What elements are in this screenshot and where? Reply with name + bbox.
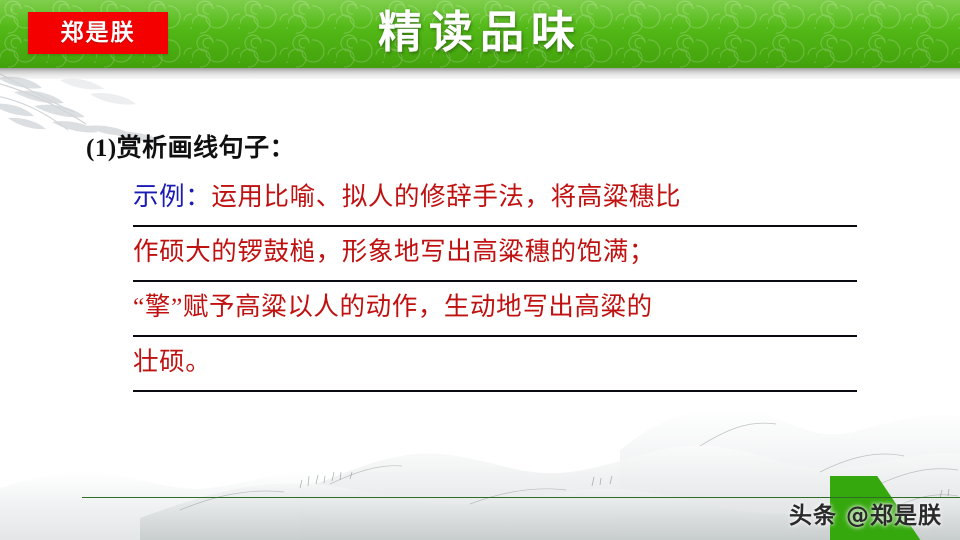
answer-text: 壮硕。: [133, 347, 211, 376]
answer-text: 作硕大的锣鼓槌，形象地写出高粱穗的饱满；: [133, 237, 655, 266]
answer-row: 示例：运用比喻、拟人的修辞手法，将高粱穗比: [133, 172, 857, 227]
page-title: 精读品味: [0, 2, 960, 64]
bamboo-decoration-icon: [0, 72, 220, 182]
slide-canvas: 郑是朕 精读品味 (1)赏析画线句子：: [0, 0, 960, 540]
answer-text: 运用比喻、拟人的修辞手法，将高粱穗比: [211, 182, 681, 211]
answer-label: 示例：: [133, 182, 211, 211]
answer-text: “擎”赋予高粱以人的动作，生动地写出高粱的: [133, 292, 653, 321]
watermark-label: 头条 @郑是朕: [789, 496, 942, 530]
answer-row: 壮硕。: [133, 337, 857, 392]
question-prompt: (1)赏析画线句子：: [86, 128, 295, 164]
answer-row: 作硕大的锣鼓槌，形象地写出高粱穗的饱满；: [133, 227, 857, 282]
header-divider: [0, 68, 960, 79]
answer-block: 示例：运用比喻、拟人的修辞手法，将高粱穗比 作硕大的锣鼓槌，形象地写出高粱穗的饱…: [133, 172, 857, 392]
answer-row: “擎”赋予高粱以人的动作，生动地写出高粱的: [133, 282, 857, 337]
